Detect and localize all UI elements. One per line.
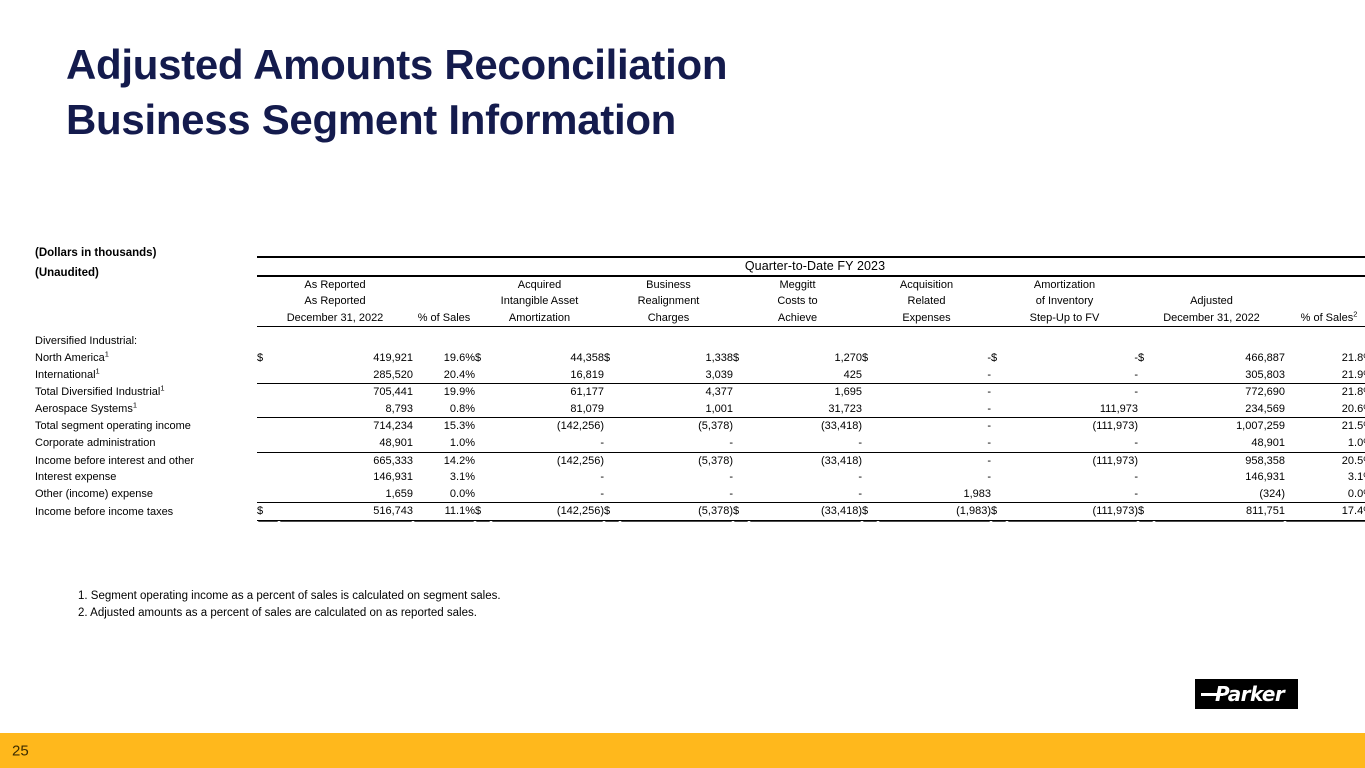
cell-currency-acq xyxy=(475,435,491,452)
table-row[interactable]: Total segment operating income 714,234 1… xyxy=(35,418,1365,435)
cell-pct-sales-1: 0.0% xyxy=(413,486,475,503)
cell-currency-bus: $ xyxy=(604,503,620,521)
cell-pct-sales-2: 3.1% xyxy=(1285,469,1365,486)
cell-inv-stepup: - xyxy=(1007,384,1138,401)
cell-business-realign: - xyxy=(620,486,733,503)
column-header-row-3: December 31, 2022 % of Sales Amortizatio… xyxy=(35,310,1365,327)
header-pct-sales-1-l3: % of Sales xyxy=(413,310,475,327)
header-acq-intangible-l3: Amortization xyxy=(475,310,604,327)
cell-as-reported: 714,234 xyxy=(279,418,413,435)
cell-currency-adjusted xyxy=(1138,469,1154,486)
header-as-reported-l2: As Reported xyxy=(257,293,413,310)
page-title: Adjusted Amounts Reconciliation Business… xyxy=(66,38,966,147)
cell-currency-inv xyxy=(991,401,1007,418)
cell-acq-related: 1,983 xyxy=(878,486,991,503)
cell-acq-intangible: 61,177 xyxy=(491,384,604,401)
table-row[interactable]: International1 285,520 20.4% 16,819 3,03… xyxy=(35,367,1365,384)
cell-currency-reported xyxy=(257,418,279,435)
cell-pct-sales-1: 19.9% xyxy=(413,384,475,401)
header-acq-intangible-l2: Intangible Asset xyxy=(475,293,604,310)
cell-inv-stepup: - xyxy=(1007,367,1138,384)
cell-pct-sales-2: 21.8% xyxy=(1285,350,1365,367)
cell-currency-bus xyxy=(604,486,620,503)
header-pct-sales-1-l2 xyxy=(413,293,475,310)
header-meggitt-l1: Meggitt xyxy=(733,276,862,294)
cell-acq-intangible: - xyxy=(491,486,604,503)
cell-currency-bus xyxy=(604,401,620,418)
cell-currency-inv xyxy=(991,452,1007,469)
cell-currency-meg: $ xyxy=(733,503,749,521)
column-header-row-1: As Reported Acquired Business Meggitt Ac… xyxy=(35,276,1365,294)
cell-currency-bus xyxy=(604,367,620,384)
parker-logo: Parker xyxy=(1195,679,1298,709)
cell-adjusted: 772,690 xyxy=(1154,384,1285,401)
period-header: Quarter-to-Date FY 2023 xyxy=(257,257,1365,276)
page-number: 25 xyxy=(12,743,29,758)
cell-inv-stepup: - xyxy=(1007,486,1138,503)
cell-acq-related: - xyxy=(878,401,991,418)
cell-currency-meg xyxy=(733,469,749,486)
cell-currency-meg xyxy=(733,384,749,401)
cell-pct-sales-2: 21.5% xyxy=(1285,418,1365,435)
row-label: Income before income taxes xyxy=(35,503,257,521)
cell-currency-bus xyxy=(604,452,620,469)
table-row[interactable]: Income before income taxes $ 516,743 11.… xyxy=(35,503,1365,521)
cell-currency-adjusted xyxy=(1138,452,1154,469)
cell-meggitt: 1,270 xyxy=(749,350,862,367)
cell-currency-acq xyxy=(475,401,491,418)
header-acq-intangible-l1: Acquired xyxy=(475,276,604,294)
cell-currency-bus xyxy=(604,418,620,435)
cell-currency-adjusted xyxy=(1138,367,1154,384)
cell-currency-reported: $ xyxy=(257,350,279,367)
cell-pct-sales-2: 1.0% xyxy=(1285,435,1365,452)
cell-currency-acr xyxy=(862,435,878,452)
cell-currency-meg xyxy=(733,452,749,469)
header-pct-sales-2-l1 xyxy=(1285,276,1365,294)
row-label: Corporate administration xyxy=(35,435,257,452)
cell-currency-reported xyxy=(257,486,279,503)
cell-currency-meg xyxy=(733,367,749,384)
cell-currency-acq xyxy=(475,486,491,503)
row-label-superscript: 1 xyxy=(133,401,137,410)
cell-adjusted: 146,931 xyxy=(1154,469,1285,486)
row-label: Aerospace Systems1 xyxy=(35,401,257,418)
cell-inv-stepup: 111,973 xyxy=(1007,401,1138,418)
cell-currency-acq: $ xyxy=(475,350,491,367)
header-label-blank-1 xyxy=(35,276,257,294)
cell-acq-intangible: 81,079 xyxy=(491,401,604,418)
cell-currency-bus xyxy=(604,384,620,401)
cell-currency-adjusted xyxy=(1138,418,1154,435)
cell-pct-sales-1: 3.1% xyxy=(413,469,475,486)
cell-currency-bus xyxy=(604,435,620,452)
period-header-row: Quarter-to-Date FY 2023 xyxy=(35,257,1365,276)
header-label-blank-3 xyxy=(35,310,257,327)
footnote-1: 1. Segment operating income as a percent… xyxy=(78,588,501,605)
row-label-text: North America xyxy=(35,352,105,364)
section-label-diversified-industrial: Diversified Industrial: xyxy=(35,333,257,350)
table-row[interactable]: Other (income) expense 1,659 0.0% - - - … xyxy=(35,486,1365,503)
cell-acq-related: - xyxy=(878,350,991,367)
cell-currency-inv xyxy=(991,384,1007,401)
row-label: Other (income) expense xyxy=(35,486,257,503)
cell-currency-acr xyxy=(862,401,878,418)
cell-acq-related: - xyxy=(878,435,991,452)
section-label-blank xyxy=(257,333,1365,350)
cell-as-reported: 48,901 xyxy=(279,435,413,452)
cell-currency-adjusted: $ xyxy=(1138,350,1154,367)
cell-inv-stepup: (111,973) xyxy=(1007,452,1138,469)
header-business-realign-l3: Charges xyxy=(604,310,733,327)
cell-currency-adjusted xyxy=(1138,435,1154,452)
cell-business-realign: 4,377 xyxy=(620,384,733,401)
header-inv-stepup-l3: Step-Up to FV xyxy=(991,310,1138,327)
cell-currency-acq xyxy=(475,367,491,384)
cell-currency-reported xyxy=(257,401,279,418)
cell-currency-acq xyxy=(475,452,491,469)
cell-acq-intangible: - xyxy=(491,469,604,486)
cell-meggitt: (33,418) xyxy=(749,503,862,521)
header-adjusted-l1 xyxy=(1138,276,1285,294)
row-label: Total Diversified Industrial1 xyxy=(35,384,257,401)
column-header-row-2: As Reported Intangible Asset Realignment… xyxy=(35,293,1365,310)
cell-adjusted: 305,803 xyxy=(1154,367,1285,384)
table-row[interactable]: North America1 $ 419,921 19.6% $ 44,358 … xyxy=(35,350,1365,367)
cell-meggitt: - xyxy=(749,486,862,503)
table-row[interactable]: Income before interest and other 665,333… xyxy=(35,452,1365,469)
header-acq-related-l3: Expenses xyxy=(862,310,991,327)
cell-currency-adjusted: $ xyxy=(1138,503,1154,521)
header-inv-stepup-l1: Amortization xyxy=(991,276,1138,294)
header-pct-sales-2-l2 xyxy=(1285,293,1365,310)
cell-currency-inv xyxy=(991,418,1007,435)
cell-acq-related: - xyxy=(878,452,991,469)
header-adjusted-l3: December 31, 2022 xyxy=(1138,310,1285,327)
footer-bar: 25 xyxy=(0,733,1365,768)
cell-acq-intangible: (142,256) xyxy=(491,503,604,521)
cell-currency-acr xyxy=(862,384,878,401)
cell-currency-acq xyxy=(475,418,491,435)
cell-meggitt: - xyxy=(749,435,862,452)
cell-pct-sales-1: 1.0% xyxy=(413,435,475,452)
cell-as-reported: 8,793 xyxy=(279,401,413,418)
cell-business-realign: 3,039 xyxy=(620,367,733,384)
footnote-2: 2. Adjusted amounts as a percent of sale… xyxy=(78,605,501,622)
cell-pct-sales-1: 20.4% xyxy=(413,367,475,384)
cell-inv-stepup: - xyxy=(1007,350,1138,367)
cell-adjusted: 466,887 xyxy=(1154,350,1285,367)
cell-currency-acr xyxy=(862,418,878,435)
row-label-superscript: 1 xyxy=(160,384,164,393)
row-label-superscript: 1 xyxy=(105,349,109,358)
cell-acq-related: (1,983) xyxy=(878,503,991,521)
cell-pct-sales-2: 20.5% xyxy=(1285,452,1365,469)
cell-acq-intangible: - xyxy=(491,435,604,452)
cell-adjusted: (324) xyxy=(1154,486,1285,503)
cell-pct-sales-2: 17.4% xyxy=(1285,503,1365,521)
cell-currency-acr xyxy=(862,452,878,469)
cell-adjusted: 1,007,259 xyxy=(1154,418,1285,435)
cell-currency-inv: $ xyxy=(991,350,1007,367)
cell-currency-adjusted xyxy=(1138,486,1154,503)
cell-currency-reported xyxy=(257,435,279,452)
cell-acq-intangible: (142,256) xyxy=(491,418,604,435)
row-label: Interest expense xyxy=(35,469,257,486)
cell-pct-sales-2: 21.9% xyxy=(1285,367,1365,384)
table-row[interactable]: Corporate administration 48,901 1.0% - -… xyxy=(35,435,1365,452)
cell-currency-reported: $ xyxy=(257,503,279,521)
table-row[interactable]: Total Diversified Industrial1 705,441 19… xyxy=(35,384,1365,401)
row-label: Total segment operating income xyxy=(35,418,257,435)
cell-currency-inv xyxy=(991,486,1007,503)
header-pct-sales-1-l1 xyxy=(413,276,475,294)
cell-currency-meg xyxy=(733,418,749,435)
row-label-text: Total Diversified Industrial xyxy=(35,386,160,398)
row-label-text: International xyxy=(35,369,96,381)
cell-currency-reported xyxy=(257,367,279,384)
parker-logo-text: Parker xyxy=(1215,684,1284,704)
cell-pct-sales-1: 15.3% xyxy=(413,418,475,435)
cell-currency-acr: $ xyxy=(862,350,878,367)
footnotes: 1. Segment operating income as a percent… xyxy=(78,588,501,622)
cell-as-reported: 1,659 xyxy=(279,486,413,503)
cell-pct-sales-1: 11.1% xyxy=(413,503,475,521)
cell-meggitt: (33,418) xyxy=(749,418,862,435)
cell-adjusted: 234,569 xyxy=(1154,401,1285,418)
cell-business-realign: (5,378) xyxy=(620,418,733,435)
section-label-row: Diversified Industrial: xyxy=(35,333,1365,350)
cell-adjusted: 811,751 xyxy=(1154,503,1285,521)
table-row[interactable]: Interest expense 146,931 3.1% - - - - - … xyxy=(35,469,1365,486)
cell-as-reported: 705,441 xyxy=(279,384,413,401)
cell-as-reported: 285,520 xyxy=(279,367,413,384)
cell-currency-meg: $ xyxy=(733,350,749,367)
table-row[interactable]: Aerospace Systems1 8,793 0.8% 81,079 1,0… xyxy=(35,401,1365,418)
cell-as-reported: 146,931 xyxy=(279,469,413,486)
header-acq-related-l1: Acquisition xyxy=(862,276,991,294)
reconciliation-table-wrapper: Quarter-to-Date FY 2023 As Reported Acqu… xyxy=(35,252,1331,521)
cell-acq-intangible: 16,819 xyxy=(491,367,604,384)
cell-business-realign: (5,378) xyxy=(620,452,733,469)
page-title-line-1: Adjusted Amounts Reconciliation xyxy=(66,38,966,93)
header-business-realign-l1: Business xyxy=(604,276,733,294)
cell-currency-reported xyxy=(257,384,279,401)
cell-business-realign: (5,378) xyxy=(620,503,733,521)
row-label-superscript: 1 xyxy=(96,366,100,375)
cell-acq-related: - xyxy=(878,384,991,401)
period-header-spacer xyxy=(35,257,257,276)
header-meggitt-l3: Achieve xyxy=(733,310,862,327)
cell-currency-acr xyxy=(862,469,878,486)
cell-currency-adjusted xyxy=(1138,401,1154,418)
cell-currency-inv xyxy=(991,435,1007,452)
cell-currency-meg xyxy=(733,486,749,503)
cell-pct-sales-2: 20.6% xyxy=(1285,401,1365,418)
header-pct-sales-2-text: % of Sales xyxy=(1301,312,1354,324)
cell-acq-intangible: 44,358 xyxy=(491,350,604,367)
cell-pct-sales-1: 14.2% xyxy=(413,452,475,469)
cell-currency-acr xyxy=(862,486,878,503)
cell-acq-intangible: (142,256) xyxy=(491,452,604,469)
cell-business-realign: 1,001 xyxy=(620,401,733,418)
cell-business-realign: - xyxy=(620,469,733,486)
row-label: Income before interest and other xyxy=(35,452,257,469)
cell-currency-adjusted xyxy=(1138,384,1154,401)
header-pct-sales-2-l3: % of Sales2 xyxy=(1285,310,1365,327)
cell-adjusted: 958,358 xyxy=(1154,452,1285,469)
page-title-line-2: Business Segment Information xyxy=(66,93,966,148)
cell-business-realign: 1,338 xyxy=(620,350,733,367)
cell-as-reported: 665,333 xyxy=(279,452,413,469)
cell-currency-acr: $ xyxy=(862,503,878,521)
cell-currency-bus: $ xyxy=(604,350,620,367)
row-label: North America1 xyxy=(35,350,257,367)
cell-as-reported: 419,921 xyxy=(279,350,413,367)
header-adjusted-l2: Adjusted xyxy=(1138,293,1285,310)
header-business-realign-l2: Realignment xyxy=(604,293,733,310)
cell-pct-sales-2: 0.0% xyxy=(1285,486,1365,503)
header-pct-sales-2-superscript: 2 xyxy=(1353,309,1357,318)
header-meggitt-l2: Costs to xyxy=(733,293,862,310)
cell-meggitt: 1,695 xyxy=(749,384,862,401)
cell-currency-inv xyxy=(991,469,1007,486)
header-inv-stepup-l2: of Inventory xyxy=(991,293,1138,310)
cell-pct-sales-1: 0.8% xyxy=(413,401,475,418)
cell-pct-sales-1: 19.6% xyxy=(413,350,475,367)
cell-currency-acq xyxy=(475,384,491,401)
cell-inv-stepup: (111,973) xyxy=(1007,503,1138,521)
header-as-reported-l1: As Reported xyxy=(257,276,413,294)
row-label-text: Aerospace Systems xyxy=(35,403,133,415)
header-as-reported-l3: December 31, 2022 xyxy=(257,310,413,327)
cell-currency-bus xyxy=(604,469,620,486)
cell-currency-inv xyxy=(991,367,1007,384)
cell-currency-reported xyxy=(257,469,279,486)
cell-meggitt: 425 xyxy=(749,367,862,384)
cell-acq-related: - xyxy=(878,418,991,435)
cell-currency-acq xyxy=(475,469,491,486)
cell-adjusted: 48,901 xyxy=(1154,435,1285,452)
cell-meggitt: 31,723 xyxy=(749,401,862,418)
cell-pct-sales-2: 21.8% xyxy=(1285,384,1365,401)
cell-currency-inv: $ xyxy=(991,503,1007,521)
cell-currency-acq: $ xyxy=(475,503,491,521)
header-acq-related-l2: Related xyxy=(862,293,991,310)
cell-acq-related: - xyxy=(878,469,991,486)
cell-currency-acr xyxy=(862,367,878,384)
cell-business-realign: - xyxy=(620,435,733,452)
reconciliation-table: Quarter-to-Date FY 2023 As Reported Acqu… xyxy=(35,252,1365,521)
cell-currency-meg xyxy=(733,401,749,418)
cell-meggitt: - xyxy=(749,469,862,486)
cell-meggitt: (33,418) xyxy=(749,452,862,469)
cell-inv-stepup: - xyxy=(1007,469,1138,486)
cell-inv-stepup: (111,973) xyxy=(1007,418,1138,435)
cell-currency-meg xyxy=(733,435,749,452)
cell-acq-related: - xyxy=(878,367,991,384)
cell-as-reported: 516,743 xyxy=(279,503,413,521)
cell-currency-reported xyxy=(257,452,279,469)
header-label-blank-2 xyxy=(35,293,257,310)
row-label: International1 xyxy=(35,367,257,384)
cell-inv-stepup: - xyxy=(1007,435,1138,452)
